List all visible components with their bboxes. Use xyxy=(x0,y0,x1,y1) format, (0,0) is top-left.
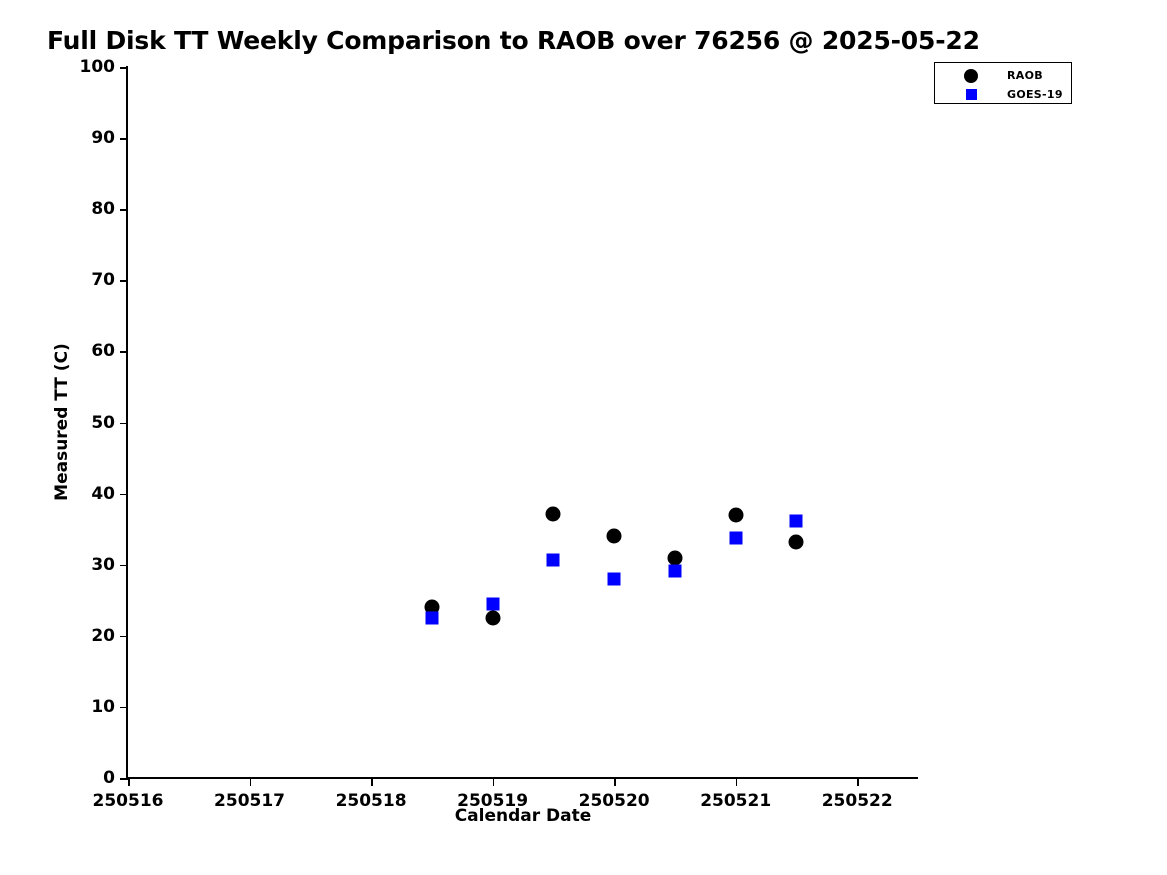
y-tick-label: 60 xyxy=(91,341,115,361)
data-point-raob xyxy=(546,506,561,521)
plot-area: 0102030405060708090100 25051625051725051… xyxy=(128,67,918,778)
y-tick-label: 50 xyxy=(91,413,115,433)
y-tick-label: 0 xyxy=(103,768,115,788)
data-point-goes-19 xyxy=(668,565,681,578)
data-point-raob xyxy=(789,534,804,549)
y-tick-mark xyxy=(120,565,128,567)
y-tick-mark xyxy=(120,209,128,211)
legend-swatch-wrap xyxy=(935,89,1007,100)
data-point-goes-19 xyxy=(729,532,742,545)
y-tick-label: 70 xyxy=(91,270,115,290)
y-tick-label: 80 xyxy=(91,199,115,219)
data-point-goes-19 xyxy=(608,572,621,585)
legend-square-icon xyxy=(966,89,977,100)
y-tick-label: 30 xyxy=(91,555,115,575)
data-point-raob xyxy=(485,611,500,626)
y-tick-mark xyxy=(120,138,128,140)
y-tick-mark xyxy=(120,778,128,780)
chart-figure: Full Disk TT Weekly Comparison to RAOB o… xyxy=(0,0,1167,875)
y-tick-label: 40 xyxy=(91,484,115,504)
x-axis-label: Calendar Date xyxy=(128,806,918,826)
y-tick-label: 100 xyxy=(80,57,116,77)
data-point-raob xyxy=(728,507,743,522)
legend-item-goes-19[interactable]: GOES-19 xyxy=(935,85,1071,104)
legend-circle-icon xyxy=(964,69,978,83)
y-tick-mark xyxy=(120,494,128,496)
y-tick-label: 20 xyxy=(91,626,115,646)
x-tick-mark xyxy=(857,778,859,786)
y-tick-mark xyxy=(120,636,128,638)
x-tick-mark xyxy=(614,778,616,786)
y-tick-mark xyxy=(120,67,128,69)
x-tick-mark xyxy=(736,778,738,786)
data-point-raob xyxy=(667,550,682,565)
x-tick-mark xyxy=(128,778,130,786)
y-tick-mark xyxy=(120,423,128,425)
y-tick-mark xyxy=(120,351,128,353)
legend-label: RAOB xyxy=(1007,69,1043,82)
data-point-goes-19 xyxy=(547,554,560,567)
x-tick-mark xyxy=(493,778,495,786)
y-tick-label: 10 xyxy=(91,697,115,717)
y-tick-label: 90 xyxy=(91,128,115,148)
legend-label: GOES-19 xyxy=(1007,88,1063,101)
data-point-goes-19 xyxy=(790,514,803,527)
y-axis-label: Measured TT (C) xyxy=(52,343,72,501)
y-tick-mark xyxy=(120,280,128,282)
data-point-goes-19 xyxy=(425,612,438,625)
y-tick-mark xyxy=(120,707,128,709)
legend-item-raob[interactable]: RAOB xyxy=(935,66,1071,85)
x-tick-mark xyxy=(250,778,252,786)
x-tick-mark xyxy=(371,778,373,786)
page-title: Full Disk TT Weekly Comparison to RAOB o… xyxy=(47,26,980,55)
legend-swatch-wrap xyxy=(935,69,1007,83)
data-point-goes-19 xyxy=(486,597,499,610)
data-point-raob xyxy=(607,528,622,543)
chart-legend: RAOBGOES-19 xyxy=(934,62,1072,104)
